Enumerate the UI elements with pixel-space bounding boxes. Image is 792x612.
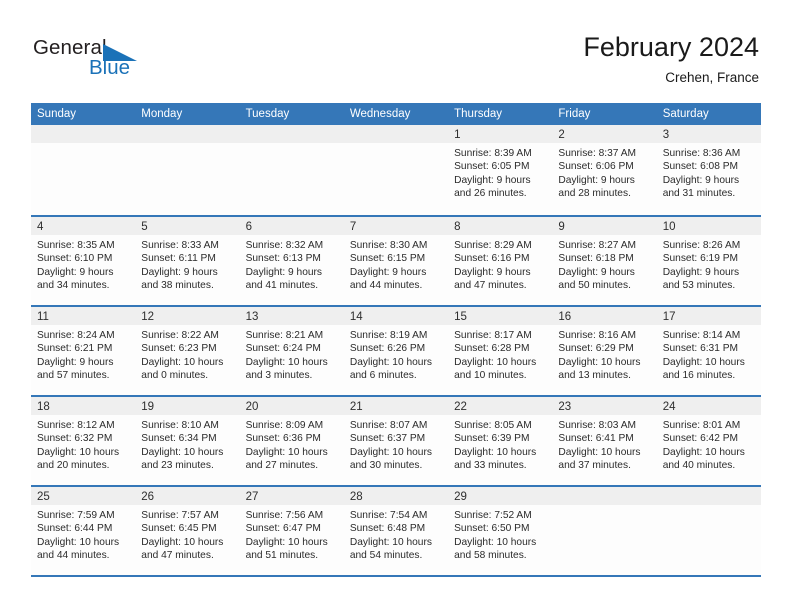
sunrise-text: Sunrise: 8:19 AM [350,329,443,342]
daylight-text-line2: and 30 minutes. [350,459,443,472]
day-number-band: 11 [31,307,135,325]
sunrise-text: Sunrise: 8:07 AM [350,419,443,432]
day-number-band: 5 [135,217,239,235]
calendar-day-cell[interactable]: 19Sunrise: 8:10 AMSunset: 6:34 PMDayligh… [135,397,239,485]
day-number: 23 [558,401,571,413]
sunrise-text: Sunrise: 8:24 AM [37,329,130,342]
calendar-day-cell[interactable]: 25Sunrise: 7:59 AMSunset: 6:44 PMDayligh… [31,487,135,575]
daylight-text-line1: Daylight: 10 hours [454,446,547,459]
calendar-day-cell[interactable]: 29Sunrise: 7:52 AMSunset: 6:50 PMDayligh… [448,487,552,575]
calendar-day-cell[interactable]: 6Sunrise: 8:32 AMSunset: 6:13 PMDaylight… [240,217,344,305]
day-sun-info: Sunrise: 8:21 AMSunset: 6:24 PMDaylight:… [240,325,344,383]
sunset-text: Sunset: 6:41 PM [558,432,651,445]
day-sun-info: Sunrise: 8:27 AMSunset: 6:18 PMDaylight:… [552,235,656,293]
calendar-day-cell[interactable]: 28Sunrise: 7:54 AMSunset: 6:48 PMDayligh… [344,487,448,575]
calendar-grid: SundayMondayTuesdayWednesdayThursdayFrid… [31,103,761,577]
daylight-text-line1: Daylight: 10 hours [558,356,651,369]
day-number-band: 25 [31,487,135,505]
day-number-band: 21 [344,397,448,415]
sunrise-text: Sunrise: 8:16 AM [558,329,651,342]
calendar-weeks: 1Sunrise: 8:39 AMSunset: 6:05 PMDaylight… [31,125,761,575]
sunrise-text: Sunrise: 8:36 AM [663,147,756,160]
daylight-text-line1: Daylight: 10 hours [141,536,234,549]
day-number: 10 [663,221,676,233]
day-number-band [344,125,448,143]
day-number: 28 [350,491,363,503]
day-number-band: 13 [240,307,344,325]
sunrise-text: Sunrise: 8:12 AM [37,419,130,432]
day-number-band [240,125,344,143]
sunset-text: Sunset: 6:23 PM [141,342,234,355]
sunset-text: Sunset: 6:19 PM [663,252,756,265]
day-number-band: 12 [135,307,239,325]
sunset-text: Sunset: 6:16 PM [454,252,547,265]
day-number: 5 [141,221,147,233]
calendar-page: General Blue February 2024 Crehen, Franc… [0,0,792,612]
general-blue-logo[interactable]: General Blue [33,36,213,88]
calendar-day-cell[interactable]: 14Sunrise: 8:19 AMSunset: 6:26 PMDayligh… [344,307,448,395]
daylight-text-line1: Daylight: 10 hours [663,356,756,369]
sunset-text: Sunset: 6:42 PM [663,432,756,445]
daylight-text-line2: and 47 minutes. [141,549,234,562]
daylight-text-line2: and 3 minutes. [246,369,339,382]
calendar-day-cell[interactable]: 15Sunrise: 8:17 AMSunset: 6:28 PMDayligh… [448,307,552,395]
sunset-text: Sunset: 6:29 PM [558,342,651,355]
calendar-day-cell[interactable]: 22Sunrise: 8:05 AMSunset: 6:39 PMDayligh… [448,397,552,485]
daylight-text-line1: Daylight: 10 hours [246,356,339,369]
calendar-day-cell[interactable]: 17Sunrise: 8:14 AMSunset: 6:31 PMDayligh… [657,307,761,395]
calendar-day-cell[interactable]: 3Sunrise: 8:36 AMSunset: 6:08 PMDaylight… [657,125,761,215]
sunrise-text: Sunrise: 7:54 AM [350,509,443,522]
calendar-day-cell[interactable]: 20Sunrise: 8:09 AMSunset: 6:36 PMDayligh… [240,397,344,485]
calendar-day-cell[interactable]: 9Sunrise: 8:27 AMSunset: 6:18 PMDaylight… [552,217,656,305]
day-number-band [552,487,656,505]
sunrise-text: Sunrise: 8:10 AM [141,419,234,432]
day-number-band: 18 [31,397,135,415]
daylight-text-line2: and 34 minutes. [37,279,130,292]
sunrise-text: Sunrise: 8:14 AM [663,329,756,342]
sunrise-text: Sunrise: 8:37 AM [558,147,651,160]
calendar-day-cell[interactable]: 4Sunrise: 8:35 AMSunset: 6:10 PMDaylight… [31,217,135,305]
calendar-day-cell-empty [552,487,656,575]
daylight-text-line2: and 38 minutes. [141,279,234,292]
day-sun-info: Sunrise: 8:30 AMSunset: 6:15 PMDaylight:… [344,235,448,293]
sunset-text: Sunset: 6:39 PM [454,432,547,445]
day-number: 26 [141,491,154,503]
day-number-band [657,487,761,505]
calendar-day-cell[interactable]: 21Sunrise: 8:07 AMSunset: 6:37 PMDayligh… [344,397,448,485]
calendar-week-row: 18Sunrise: 8:12 AMSunset: 6:32 PMDayligh… [31,395,761,485]
sunrise-text: Sunrise: 8:32 AM [246,239,339,252]
calendar-day-cell[interactable]: 2Sunrise: 8:37 AMSunset: 6:06 PMDaylight… [552,125,656,215]
daylight-text-line1: Daylight: 10 hours [141,356,234,369]
calendar-day-cell[interactable]: 7Sunrise: 8:30 AMSunset: 6:15 PMDaylight… [344,217,448,305]
day-number-band: 24 [657,397,761,415]
sunset-text: Sunset: 6:15 PM [350,252,443,265]
calendar-day-cell-empty [31,125,135,215]
calendar-bottom-rule [31,575,761,577]
day-number: 18 [37,401,50,413]
day-number-band [31,125,135,143]
daylight-text-line2: and 13 minutes. [558,369,651,382]
day-number: 16 [558,311,571,323]
day-sun-info: Sunrise: 8:19 AMSunset: 6:26 PMDaylight:… [344,325,448,383]
sunset-text: Sunset: 6:26 PM [350,342,443,355]
sunrise-text: Sunrise: 8:05 AM [454,419,547,432]
day-sun-info: Sunrise: 8:32 AMSunset: 6:13 PMDaylight:… [240,235,344,293]
day-sun-info: Sunrise: 8:37 AMSunset: 6:06 PMDaylight:… [552,143,656,201]
weekday-header-row: SundayMondayTuesdayWednesdayThursdayFrid… [31,103,761,125]
day-number-band: 10 [657,217,761,235]
daylight-text-line2: and 20 minutes. [37,459,130,472]
calendar-day-cell[interactable]: 12Sunrise: 8:22 AMSunset: 6:23 PMDayligh… [135,307,239,395]
sunrise-text: Sunrise: 8:35 AM [37,239,130,252]
sunset-text: Sunset: 6:10 PM [37,252,130,265]
sunrise-text: Sunrise: 8:01 AM [663,419,756,432]
daylight-text-line1: Daylight: 10 hours [454,536,547,549]
day-number-band: 15 [448,307,552,325]
day-number: 13 [246,311,259,323]
daylight-text-line1: Daylight: 10 hours [246,536,339,549]
day-number-band: 29 [448,487,552,505]
calendar-day-cell-empty [657,487,761,575]
calendar-day-cell[interactable]: 11Sunrise: 8:24 AMSunset: 6:21 PMDayligh… [31,307,135,395]
day-number-band: 2 [552,125,656,143]
day-sun-info: Sunrise: 7:52 AMSunset: 6:50 PMDaylight:… [448,505,552,563]
sunrise-text: Sunrise: 8:27 AM [558,239,651,252]
sunset-text: Sunset: 6:13 PM [246,252,339,265]
daylight-text-line2: and 33 minutes. [454,459,547,472]
day-number: 27 [246,491,259,503]
sunset-text: Sunset: 6:24 PM [246,342,339,355]
sunrise-text: Sunrise: 7:59 AM [37,509,130,522]
day-sun-info: Sunrise: 8:12 AMSunset: 6:32 PMDaylight:… [31,415,135,473]
day-number-band: 26 [135,487,239,505]
calendar-day-cell[interactable]: 23Sunrise: 8:03 AMSunset: 6:41 PMDayligh… [552,397,656,485]
page-title: February 2024 [583,30,759,64]
day-number: 22 [454,401,467,413]
day-number-band: 22 [448,397,552,415]
day-number: 21 [350,401,363,413]
calendar-day-cell[interactable]: 13Sunrise: 8:21 AMSunset: 6:24 PMDayligh… [240,307,344,395]
calendar-day-cell[interactable]: 8Sunrise: 8:29 AMSunset: 6:16 PMDaylight… [448,217,552,305]
day-number: 20 [246,401,259,413]
day-number-band: 6 [240,217,344,235]
day-sun-info: Sunrise: 8:17 AMSunset: 6:28 PMDaylight:… [448,325,552,383]
daylight-text-line2: and 0 minutes. [141,369,234,382]
daylight-text-line1: Daylight: 10 hours [350,356,443,369]
sunset-text: Sunset: 6:50 PM [454,522,547,535]
daylight-text-line1: Daylight: 10 hours [141,446,234,459]
day-number: 9 [558,221,564,233]
day-number-band: 3 [657,125,761,143]
calendar-day-cell[interactable]: 18Sunrise: 8:12 AMSunset: 6:32 PMDayligh… [31,397,135,485]
sunrise-text: Sunrise: 8:03 AM [558,419,651,432]
daylight-text-line1: Daylight: 9 hours [246,266,339,279]
daylight-text-line2: and 41 minutes. [246,279,339,292]
page-header: General Blue February 2024 Crehen, Franc… [0,0,792,100]
calendar-day-cell-empty [344,125,448,215]
sunset-text: Sunset: 6:45 PM [141,522,234,535]
day-number-band: 27 [240,487,344,505]
daylight-text-line2: and 16 minutes. [663,369,756,382]
daylight-text-line1: Daylight: 10 hours [37,536,130,549]
sunset-text: Sunset: 6:37 PM [350,432,443,445]
calendar-week-row: 25Sunrise: 7:59 AMSunset: 6:44 PMDayligh… [31,485,761,575]
day-number: 1 [454,129,460,141]
weekday-header-saturday: Saturday [657,103,761,125]
daylight-text-line1: Daylight: 9 hours [454,174,547,187]
daylight-text-line1: Daylight: 9 hours [350,266,443,279]
daylight-text-line2: and 47 minutes. [454,279,547,292]
daylight-text-line2: and 28 minutes. [558,187,651,200]
day-number: 17 [663,311,676,323]
daylight-text-line1: Daylight: 9 hours [141,266,234,279]
daylight-text-line1: Daylight: 9 hours [558,174,651,187]
day-number-band: 17 [657,307,761,325]
sunrise-text: Sunrise: 8:30 AM [350,239,443,252]
day-number: 29 [454,491,467,503]
daylight-text-line2: and 58 minutes. [454,549,547,562]
daylight-text-line2: and 37 minutes. [558,459,651,472]
day-number: 15 [454,311,467,323]
weekday-header-thursday: Thursday [448,103,552,125]
day-sun-info: Sunrise: 8:01 AMSunset: 6:42 PMDaylight:… [657,415,761,473]
logo-text-blue: Blue [89,56,130,80]
sunrise-text: Sunrise: 8:22 AM [141,329,234,342]
day-number-band: 8 [448,217,552,235]
day-number: 2 [558,129,564,141]
day-sun-info: Sunrise: 7:59 AMSunset: 6:44 PMDaylight:… [31,505,135,563]
daylight-text-line2: and 27 minutes. [246,459,339,472]
day-number-band: 20 [240,397,344,415]
day-number: 12 [141,311,154,323]
day-sun-info: Sunrise: 8:26 AMSunset: 6:19 PMDaylight:… [657,235,761,293]
sunset-text: Sunset: 6:34 PM [141,432,234,445]
weekday-header-friday: Friday [552,103,656,125]
daylight-text-line2: and 6 minutes. [350,369,443,382]
day-number: 3 [663,129,669,141]
daylight-text-line1: Daylight: 9 hours [558,266,651,279]
day-number-band: 16 [552,307,656,325]
day-sun-info: Sunrise: 8:05 AMSunset: 6:39 PMDaylight:… [448,415,552,473]
calendar-day-cell-empty [135,125,239,215]
daylight-text-line2: and 31 minutes. [663,187,756,200]
day-number: 7 [350,221,356,233]
daylight-text-line2: and 54 minutes. [350,549,443,562]
day-number-band [135,125,239,143]
day-sun-info: Sunrise: 8:35 AMSunset: 6:10 PMDaylight:… [31,235,135,293]
day-number: 4 [37,221,43,233]
daylight-text-line2: and 50 minutes. [558,279,651,292]
day-number-band: 4 [31,217,135,235]
calendar-week-row: 1Sunrise: 8:39 AMSunset: 6:05 PMDaylight… [31,125,761,215]
daylight-text-line2: and 10 minutes. [454,369,547,382]
sunset-text: Sunset: 6:31 PM [663,342,756,355]
calendar-day-cell[interactable]: 24Sunrise: 8:01 AMSunset: 6:42 PMDayligh… [657,397,761,485]
calendar-day-cell-empty [240,125,344,215]
day-sun-info: Sunrise: 8:33 AMSunset: 6:11 PMDaylight:… [135,235,239,293]
sunrise-text: Sunrise: 7:56 AM [246,509,339,522]
day-sun-info: Sunrise: 8:14 AMSunset: 6:31 PMDaylight:… [657,325,761,383]
day-sun-info: Sunrise: 8:10 AMSunset: 6:34 PMDaylight:… [135,415,239,473]
sunset-text: Sunset: 6:06 PM [558,160,651,173]
sunrise-text: Sunrise: 8:39 AM [454,147,547,160]
sunset-text: Sunset: 6:05 PM [454,160,547,173]
daylight-text-line2: and 26 minutes. [454,187,547,200]
daylight-text-line1: Daylight: 9 hours [37,266,130,279]
day-number: 6 [246,221,252,233]
daylight-text-line1: Daylight: 10 hours [350,446,443,459]
day-number: 24 [663,401,676,413]
day-number: 19 [141,401,154,413]
calendar-day-cell[interactable]: 1Sunrise: 8:39 AMSunset: 6:05 PMDaylight… [448,125,552,215]
daylight-text-line2: and 53 minutes. [663,279,756,292]
location-subtitle: Crehen, France [583,68,759,88]
sunrise-text: Sunrise: 7:57 AM [141,509,234,522]
sunrise-text: Sunrise: 8:17 AM [454,329,547,342]
day-sun-info: Sunrise: 8:39 AMSunset: 6:05 PMDaylight:… [448,143,552,201]
day-sun-info: Sunrise: 7:54 AMSunset: 6:48 PMDaylight:… [344,505,448,563]
day-sun-info: Sunrise: 8:36 AMSunset: 6:08 PMDaylight:… [657,143,761,201]
daylight-text-line1: Daylight: 9 hours [663,174,756,187]
day-number-band: 23 [552,397,656,415]
calendar-day-cell[interactable]: 26Sunrise: 7:57 AMSunset: 6:45 PMDayligh… [135,487,239,575]
title-block: February 2024 Crehen, France [583,30,759,88]
day-number: 14 [350,311,363,323]
weekday-header-sunday: Sunday [31,103,135,125]
daylight-text-line1: Daylight: 10 hours [663,446,756,459]
daylight-text-line2: and 44 minutes. [350,279,443,292]
daylight-text-line2: and 23 minutes. [141,459,234,472]
sunset-text: Sunset: 6:47 PM [246,522,339,535]
day-number-band: 1 [448,125,552,143]
calendar-day-cell[interactable]: 16Sunrise: 8:16 AMSunset: 6:29 PMDayligh… [552,307,656,395]
sunrise-text: Sunrise: 8:33 AM [141,239,234,252]
daylight-text-line2: and 40 minutes. [663,459,756,472]
sunset-text: Sunset: 6:28 PM [454,342,547,355]
weekday-header-tuesday: Tuesday [240,103,344,125]
sunset-text: Sunset: 6:36 PM [246,432,339,445]
day-number-band: 19 [135,397,239,415]
daylight-text-line1: Daylight: 10 hours [350,536,443,549]
sunset-text: Sunset: 6:11 PM [141,252,234,265]
daylight-text-line2: and 44 minutes. [37,549,130,562]
day-number-band: 14 [344,307,448,325]
daylight-text-line1: Daylight: 10 hours [246,446,339,459]
weekday-header-wednesday: Wednesday [344,103,448,125]
daylight-text-line2: and 51 minutes. [246,549,339,562]
sunset-text: Sunset: 6:44 PM [37,522,130,535]
day-sun-info: Sunrise: 8:07 AMSunset: 6:37 PMDaylight:… [344,415,448,473]
daylight-text-line1: Daylight: 10 hours [558,446,651,459]
day-sun-info: Sunrise: 8:03 AMSunset: 6:41 PMDaylight:… [552,415,656,473]
day-number-band: 28 [344,487,448,505]
day-sun-info: Sunrise: 8:09 AMSunset: 6:36 PMDaylight:… [240,415,344,473]
daylight-text-line1: Daylight: 10 hours [454,356,547,369]
day-number: 11 [37,311,49,323]
sunrise-text: Sunrise: 8:21 AM [246,329,339,342]
day-sun-info: Sunrise: 8:29 AMSunset: 6:16 PMDaylight:… [448,235,552,293]
day-number-band: 7 [344,217,448,235]
sunset-text: Sunset: 6:48 PM [350,522,443,535]
sunset-text: Sunset: 6:08 PM [663,160,756,173]
day-number: 8 [454,221,460,233]
sunset-text: Sunset: 6:18 PM [558,252,651,265]
calendar-day-cell[interactable]: 27Sunrise: 7:56 AMSunset: 6:47 PMDayligh… [240,487,344,575]
sunrise-text: Sunrise: 8:09 AM [246,419,339,432]
day-sun-info: Sunrise: 8:22 AMSunset: 6:23 PMDaylight:… [135,325,239,383]
day-sun-info: Sunrise: 7:57 AMSunset: 6:45 PMDaylight:… [135,505,239,563]
sunrise-text: Sunrise: 7:52 AM [454,509,547,522]
calendar-day-cell[interactable]: 5Sunrise: 8:33 AMSunset: 6:11 PMDaylight… [135,217,239,305]
calendar-week-row: 11Sunrise: 8:24 AMSunset: 6:21 PMDayligh… [31,305,761,395]
daylight-text-line2: and 57 minutes. [37,369,130,382]
sunset-text: Sunset: 6:21 PM [37,342,130,355]
weekday-header-monday: Monday [135,103,239,125]
calendar-day-cell[interactable]: 10Sunrise: 8:26 AMSunset: 6:19 PMDayligh… [657,217,761,305]
calendar-week-row: 4Sunrise: 8:35 AMSunset: 6:10 PMDaylight… [31,215,761,305]
day-number: 25 [37,491,50,503]
daylight-text-line1: Daylight: 9 hours [37,356,130,369]
sunrise-text: Sunrise: 8:26 AM [663,239,756,252]
day-number-band: 9 [552,217,656,235]
daylight-text-line1: Daylight: 9 hours [454,266,547,279]
daylight-text-line1: Daylight: 10 hours [37,446,130,459]
day-sun-info: Sunrise: 8:16 AMSunset: 6:29 PMDaylight:… [552,325,656,383]
sunset-text: Sunset: 6:32 PM [37,432,130,445]
day-sun-info: Sunrise: 7:56 AMSunset: 6:47 PMDaylight:… [240,505,344,563]
sunrise-text: Sunrise: 8:29 AM [454,239,547,252]
day-sun-info: Sunrise: 8:24 AMSunset: 6:21 PMDaylight:… [31,325,135,383]
daylight-text-line1: Daylight: 9 hours [663,266,756,279]
